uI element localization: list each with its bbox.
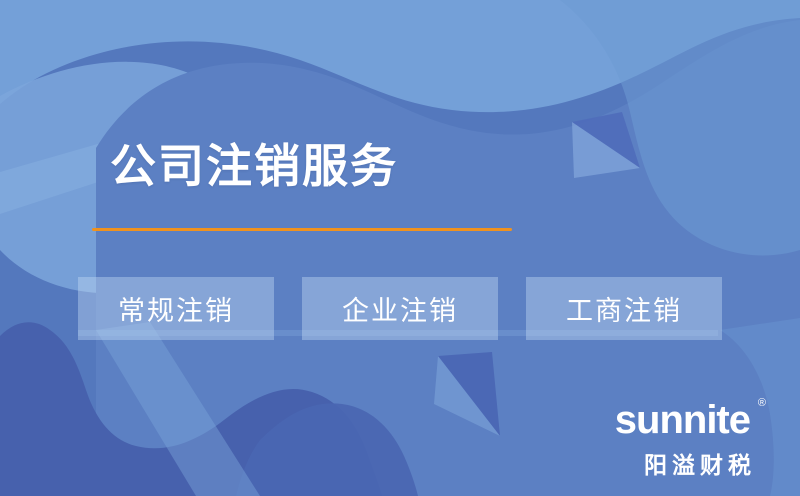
service-tag-label: 企业注销 [342, 289, 458, 328]
logo-wordmark: sunnite [615, 398, 750, 442]
service-tag-list: 常规注销 企业注销 工商注销 [78, 277, 722, 340]
content-layer: 公司注销服务 常规注销 企业注销 工商注销 sunnite ® 阳溢财税 [0, 0, 800, 496]
promo-banner: 公司注销服务 常规注销 企业注销 工商注销 sunnite ® 阳溢财税 [0, 0, 800, 496]
service-tag-enterprise[interactable]: 企业注销 [302, 277, 498, 340]
title-divider [92, 228, 512, 231]
logo-chinese-name: 阳溢财税 [615, 446, 766, 480]
service-tag-regular[interactable]: 常规注销 [78, 277, 274, 340]
registered-trademark-icon: ® [758, 398, 766, 409]
service-tag-label: 常规注销 [118, 289, 234, 328]
brand-logo[interactable]: sunnite ® 阳溢财税 [615, 400, 766, 480]
service-tag-industry-commerce[interactable]: 工商注销 [526, 277, 722, 340]
service-tag-label: 工商注销 [566, 289, 682, 328]
page-title: 公司注销服务 [110, 142, 398, 190]
logo-mark: sunnite ® [615, 400, 766, 440]
